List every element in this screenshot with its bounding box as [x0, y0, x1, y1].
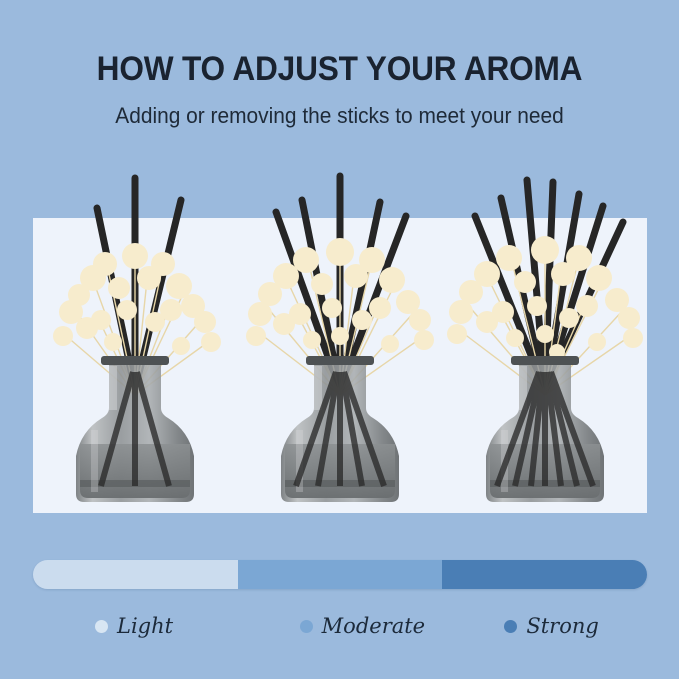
intensity-scale-bar [33, 560, 647, 589]
legend-item-strong: Strong [442, 606, 647, 646]
page-title: HOW TO ADJUST YOUR AROMA [24, 0, 655, 89]
legend-label-strong: Strong [526, 614, 598, 638]
legend-item-light: Light [33, 606, 238, 646]
legend-dot-icon [300, 620, 313, 633]
scale-segment-light [33, 560, 238, 589]
legend-dot-icon [504, 620, 517, 633]
header: HOW TO ADJUST YOUR AROMA Adding or remov… [0, 0, 679, 129]
scale-segment-strong [442, 560, 647, 589]
legend-item-moderate: Moderate [238, 606, 443, 646]
aroma-infographic: HOW TO ADJUST YOUR AROMA Adding or remov… [0, 0, 679, 679]
legend-dot-icon [95, 620, 108, 633]
legend-label-light: Light [117, 614, 173, 638]
intensity-legend: Light Moderate Strong [33, 606, 647, 646]
legend-label-moderate: Moderate [322, 614, 425, 638]
product-photo-panel [33, 218, 647, 513]
scale-segment-moderate [238, 560, 443, 589]
page-subtitle: Adding or removing the sticks to meet yo… [17, 89, 662, 129]
